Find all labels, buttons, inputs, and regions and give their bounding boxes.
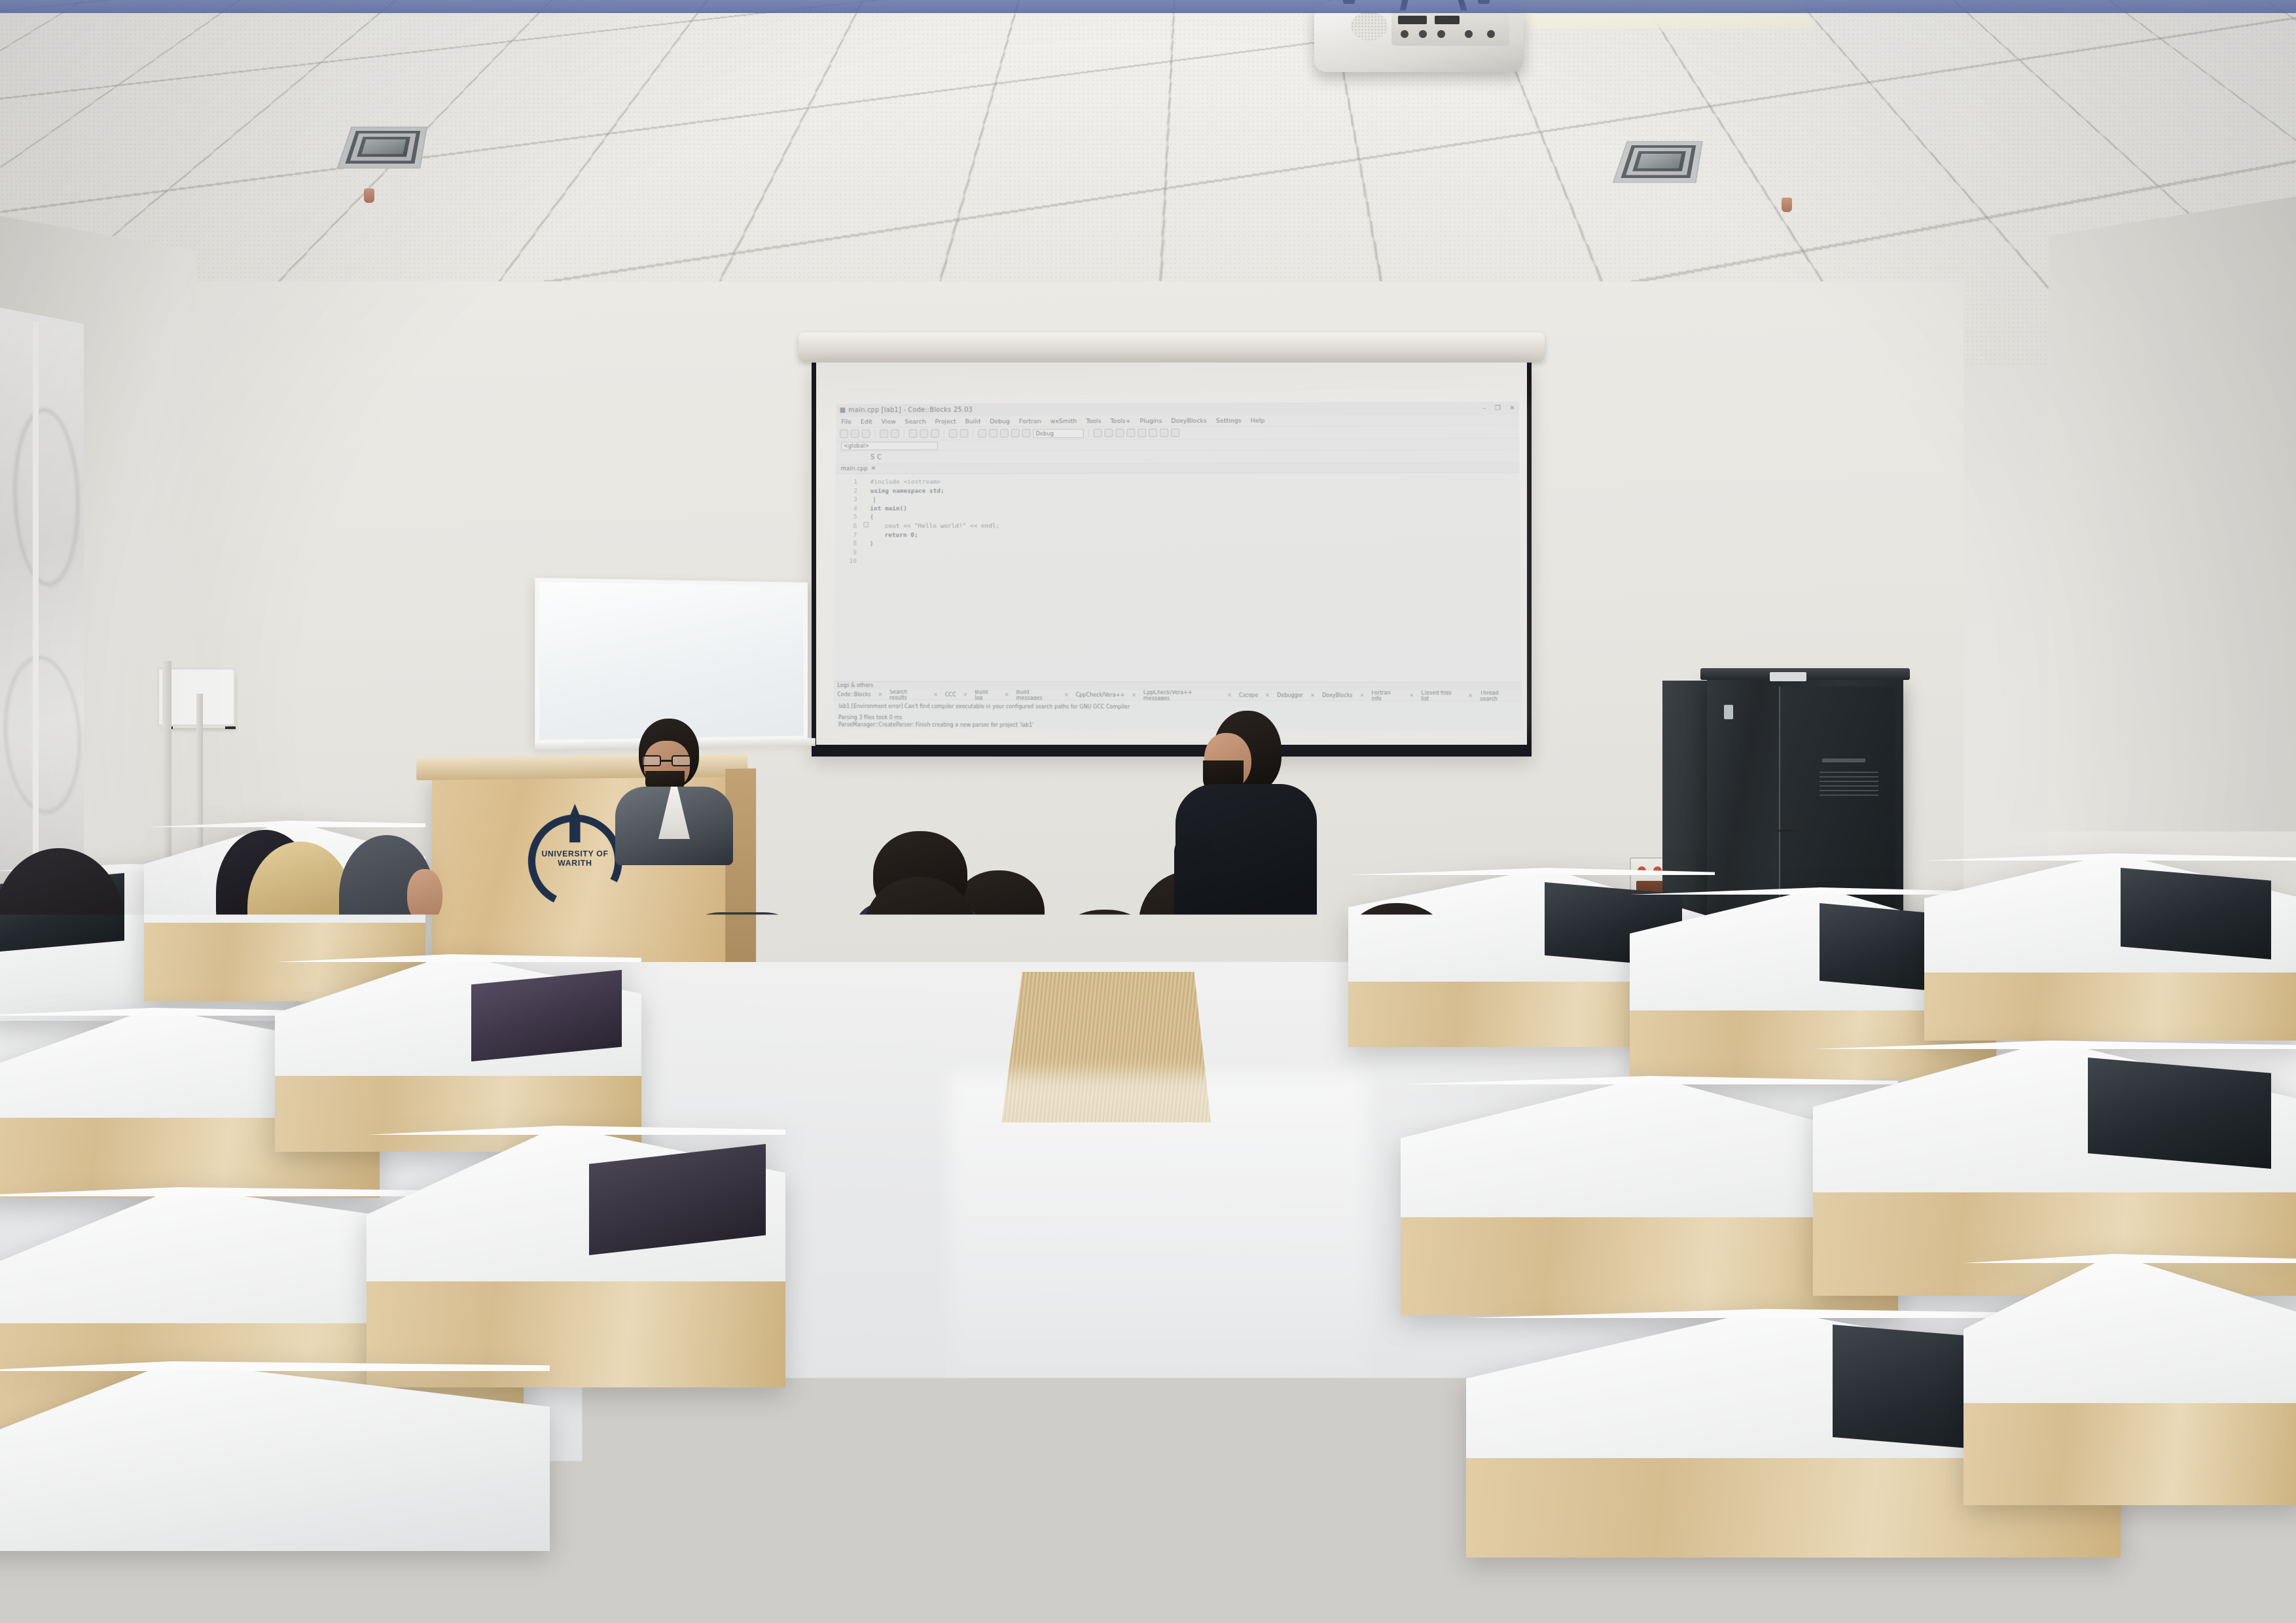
student-torso [72,1086,262,1178]
menu-doxyblocks[interactable]: DoxyBlocks [1171,417,1207,424]
college-name-block: كلية علوم الحاسوب وتكنولوجيا المعلومات C… [817,1476,1799,1552]
pen-nib-icon [569,804,580,842]
college-name-arabic: كلية علوم الحاسوب وتكنولوجيا المعلومات [817,1476,1799,1520]
seal-english-text: UNIVERSITY OF WARITH AL-ANBIYAA [1912,1490,1988,1503]
log-tab-cscope[interactable]: Cscope [1239,692,1258,698]
seal-inner: وزارة التعليم العالي والبحث العلمي [2172,1474,2248,1575]
university-seal-2017: UNIVERSITY OF WARITH AL-ANBIYAA وارث الأ… [2025,1457,2135,1592]
close-button[interactable]: ✕ [1509,404,1515,412]
build-icon[interactable] [978,429,986,438]
code-fold-toggle-icon[interactable]: - [863,522,869,527]
debug-stepinto-icon[interactable] [1115,429,1124,437]
menu-edit[interactable]: Edit [861,418,872,425]
menu-tools-plus[interactable]: Tools+ [1110,418,1130,425]
log-tab-debugger[interactable]: Debugger [1277,692,1303,698]
fire-sprinkler-left-icon [364,188,374,203]
crest-text: UNIVERSITY OF WARITH [532,849,619,868]
student-right-2 [1804,843,1941,1026]
student-right-5 [1322,903,1479,1126]
toolbar-sep-1 [874,429,875,438]
editor-tab-main-cpp[interactable]: main.cpp [841,466,868,473]
student-left-5 [72,982,255,1171]
carrel-edge [1924,853,2296,861]
log-tab-cppcheck[interactable]: CppCheck/Vera++ [1076,692,1125,698]
screenshot-root: main.cpp [lab1] - Code::Blocks 25.03 – ❐… [0,0,2296,1623]
toolbar-sep-3 [944,429,944,438]
debug-break-icon[interactable] [1149,429,1157,437]
projector-port-1 [1401,30,1408,38]
save-icon[interactable] [862,429,870,438]
student-left-4 [339,835,450,986]
lineno: 4 [835,505,857,514]
ide-main-toolbar[interactable]: Debug [836,425,1519,440]
log-tab-codeblocks[interactable]: Code::Blocks [837,692,870,698]
run-icon[interactable] [989,429,997,438]
lineno: 1 [835,478,857,487]
debug-step-icon[interactable] [1105,429,1113,437]
open-file-icon[interactable] [851,429,859,438]
carrel-edge [1964,1254,2296,1263]
new-file-icon[interactable] [840,429,848,438]
line-number-gutter: 1 2 3 4 5 6 7 8 9 10 [834,474,861,681]
code-line-6: { [870,512,1520,522]
toolbar-sep-5 [1088,429,1089,438]
lineno: 5 [835,513,857,522]
projector-port-5 [1487,30,1495,38]
student-right-4 [2140,916,2296,1139]
projector-port-panel [1391,10,1509,46]
rack-label [1822,758,1865,762]
student-hair [2160,916,2278,1027]
debug-stepout-icon[interactable] [1126,429,1135,437]
podium-presenter [615,719,733,863]
log-tab-build-msgs[interactable]: Build messages [1016,690,1057,701]
menu-debug[interactable]: Debug [990,418,1010,425]
symbol-c-icon[interactable]: C [877,454,882,461]
paste-icon[interactable] [931,429,939,438]
debug-stop-icon[interactable] [1160,429,1168,437]
scope-select[interactable]: <global> [841,441,938,450]
redo-icon[interactable] [891,429,899,438]
seal-ribbon-text: كلية علوم الحاسوب وتكنولوجيا المعلومات [1922,1563,1979,1571]
rack-nameplate [1770,672,1806,681]
student-torso [647,1073,869,1250]
menu-help[interactable]: Help [1251,417,1265,424]
codeblocks-ide-window: main.cpp [lab1] - Code::Blocks 25.03 – ❐… [833,401,1522,730]
log-tab-closed-files[interactable]: Closed files list [1421,690,1461,702]
window-controls[interactable]: – ❐ ✕ [1482,404,1515,412]
lineno: 8 [835,540,857,549]
log-tab-build-log[interactable]: Build log [975,690,997,701]
menu-file[interactable]: File [841,418,852,425]
cut-icon[interactable] [909,429,918,438]
menu-tools[interactable]: Tools [1086,418,1101,425]
foreground-student-left [46,1178,504,1544]
toolbar-sep-4 [973,429,973,438]
seal-year: 2017 [2042,1556,2118,1565]
code-line-8: return 0; [870,530,1520,540]
codeblocks-app-icon [840,408,845,413]
student-face [407,869,442,923]
symbol-s-icon[interactable]: S [870,454,874,461]
code-line-7: cout << "Hello world!" << endl; [870,521,1520,531]
projection-screen: main.cpp [lab1] - Code::Blocks 25.03 – ❐… [806,334,1537,766]
find-icon[interactable] [949,429,958,438]
projector-speaker-grille-icon [1351,12,1388,41]
marble-panel-seam [33,321,39,885]
hvac-vent-right-icon [1612,141,1703,183]
log-tab-doxyblocks[interactable]: DoxyBlocks [1322,692,1353,698]
menu-plugins[interactable]: Plugins [1140,418,1162,425]
menu-wxsmith[interactable]: wxSmith [1050,418,1077,425]
lecture-room: main.cpp [lab1] - Code::Blocks 25.03 – ❐… [0,0,2296,1623]
code-line-9: } [870,539,1520,548]
menu-search[interactable]: Search [905,418,926,425]
student-torso [1797,929,1948,1034]
student-torso [2131,1016,2296,1147]
seal-inner: UNIVERSITY OF WARITH AL-ANBIYAA وارث الأ… [1912,1474,1988,1575]
ministry-caption-2: Ministry of Higher Education and Scienti… [2155,1569,2265,1581]
screen-surface: main.cpp [lab1] - Code::Blocks 25.03 – ❐… [812,363,1532,757]
log-tab-cppcheck-msgs[interactable]: CppCheck/Vera++ messages [1143,690,1220,702]
abort-icon[interactable] [1022,429,1031,438]
standing-lecturer [1170,711,1321,1051]
lineno: 2 [835,487,857,496]
seal-arabic-text: وارث الأنبياء [2042,1538,2118,1554]
lineno: 3 [835,495,857,505]
code-editor[interactable]: 1 2 3 4 5 6 7 8 9 10 #include <ios [834,473,1522,682]
lecturer-hands [1199,972,1247,1007]
text-caret [874,497,874,503]
university-seal-2015: UNIVERSITY OF WARITH AL-ANBIYAA وارث الأ… [1895,1457,2005,1592]
college-name-english: College of Computer Science & Informatio… [817,1525,1799,1552]
ministry-seal: وزارة التعليم العالي والبحث العلمي Repub… [2155,1457,2265,1592]
marble-wall-panel [0,308,84,900]
office-chair-1 [851,1060,995,1250]
student-torso [336,933,452,993]
seal-group: UNIVERSITY OF WARITH AL-ANBIYAA وارث الأ… [1895,1457,2265,1592]
projector-port-4 [1465,30,1473,38]
eyeglasses-icon [641,755,691,766]
carrel-edge [537,1311,1126,1321]
menu-view[interactable]: View [882,418,896,425]
rack-lock-icon [1724,705,1733,719]
hvac-vent-left-icon [336,126,427,168]
lineno: 6 [835,522,857,531]
seal-inner: UNIVERSITY OF WARITH AL-ANBIYAA وارث الأ… [2042,1474,2118,1575]
ide-secondary-toolbar[interactable]: S C [836,450,1520,464]
rack-vent-grille-icon [1820,772,1878,796]
replace-icon[interactable] [960,429,969,438]
student-torso [1314,995,1490,1133]
carrel-edge [144,821,425,827]
build-target-select[interactable]: Debug [1033,429,1083,438]
code-text-area[interactable]: #include <iostream> using namespace std;… [859,473,1522,682]
log-tab-ccc[interactable]: CCC [945,692,956,698]
debug-continue-icon[interactable] [1094,429,1102,437]
undo-icon[interactable] [880,429,888,438]
editor-tab-close-icon[interactable]: ✕ [871,466,876,473]
menu-project[interactable]: Project [935,418,956,425]
lineno: 9 [834,548,857,558]
minimize-button[interactable]: – [1482,404,1486,412]
seal-arabic-text: وارث الأنبياء [1912,1538,1988,1554]
rebuild-icon[interactable] [1011,429,1020,438]
student-hair [1818,843,1920,941]
log-tab-fortran[interactable]: Fortran info [1371,690,1402,702]
ministry-arabic-text: وزارة التعليم العالي والبحث العلمي [2172,1478,2248,1492]
code-line-5: int main() [870,503,1520,513]
footer-gradient-fade [0,0,2296,13]
chair-base-1 [890,1230,1014,1270]
build-and-run-icon[interactable] [1000,429,1009,438]
university-crest-logo: UNIVERSITY OF WARITH [528,814,622,908]
projector-port-2 [1419,30,1427,38]
fire-sprinkler-right-icon [1782,198,1792,212]
monitor-screen [471,970,622,1061]
seal-english-text: UNIVERSITY OF WARITH AL-ANBIYAA [2042,1490,2118,1503]
student-torso [1969,984,2136,1106]
projector-port-3 [1437,30,1445,38]
checkered-shirt [7,1329,530,1551]
menu-settings[interactable]: Settings [1216,417,1242,424]
log-tab-search[interactable]: Search results [889,690,926,701]
debug-windows-icon[interactable] [1171,429,1179,437]
lineno: 10 [834,558,857,567]
copy-icon[interactable] [920,429,928,438]
menu-fortran[interactable]: Fortran [1019,418,1041,425]
student-right-3 [1977,890,2127,1099]
ide-title-text: main.cpp [lab1] - Code::Blocks 25.03 [848,406,973,414]
log-tab-thread-search[interactable]: Thread search [1480,690,1518,702]
menu-build[interactable]: Build [965,418,981,425]
jacket-collar [1172,1073,1250,1191]
maximize-button[interactable]: ❐ [1495,404,1501,412]
screen-roller-housing [798,332,1545,361]
student-center-front-1 [658,955,855,1243]
toolbar-sep-2 [904,429,905,438]
lineno: 7 [835,531,857,540]
debug-next-icon[interactable] [1138,429,1146,437]
